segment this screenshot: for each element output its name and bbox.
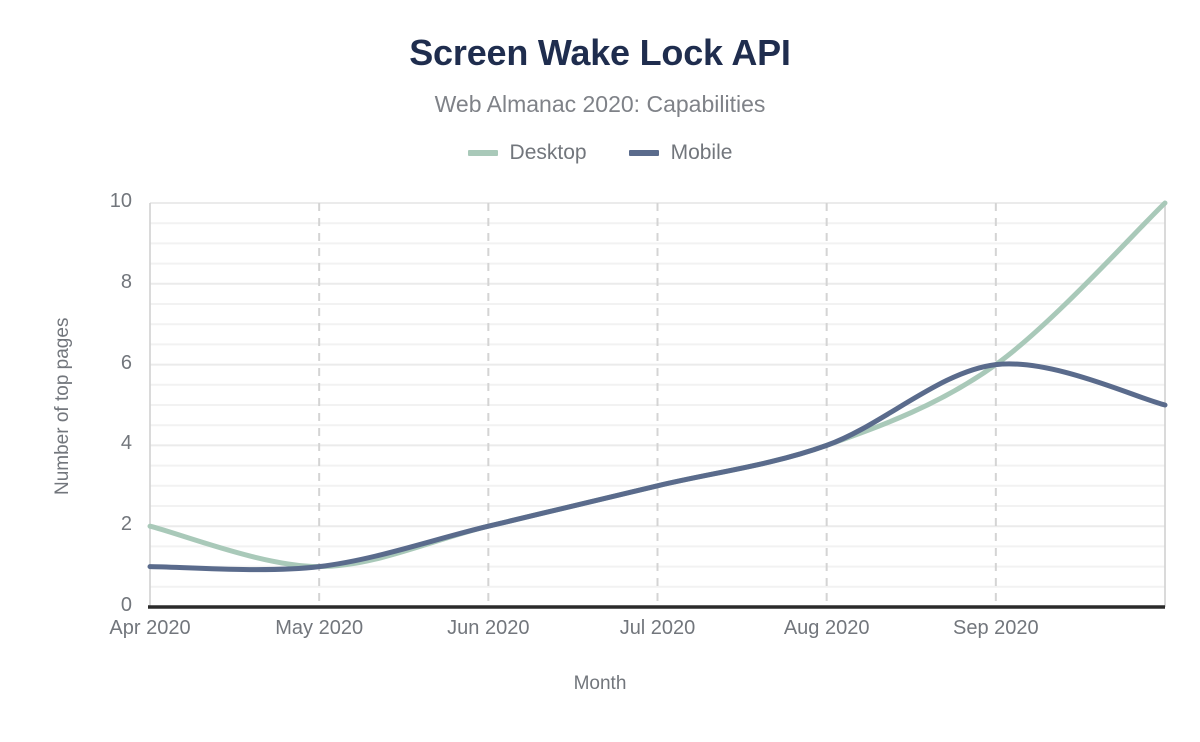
y-tick-label: 0: [22, 594, 132, 617]
y-axis-label: Number of top pages: [52, 318, 74, 495]
x-tick-label: Sep 2020: [896, 617, 1096, 640]
y-tick-label: 4: [22, 432, 132, 455]
x-axis-label: Month: [0, 673, 1200, 695]
plot-area: 0246810Apr 2020May 2020Jun 2020Jul 2020A…: [0, 0, 1200, 742]
y-tick-label: 6: [22, 352, 132, 375]
y-tick-label: 8: [22, 271, 132, 294]
y-tick-label: 2: [22, 513, 132, 536]
y-tick-label: 10: [22, 190, 132, 213]
chart-container: Screen Wake Lock API Web Almanac 2020: C…: [0, 0, 1200, 742]
